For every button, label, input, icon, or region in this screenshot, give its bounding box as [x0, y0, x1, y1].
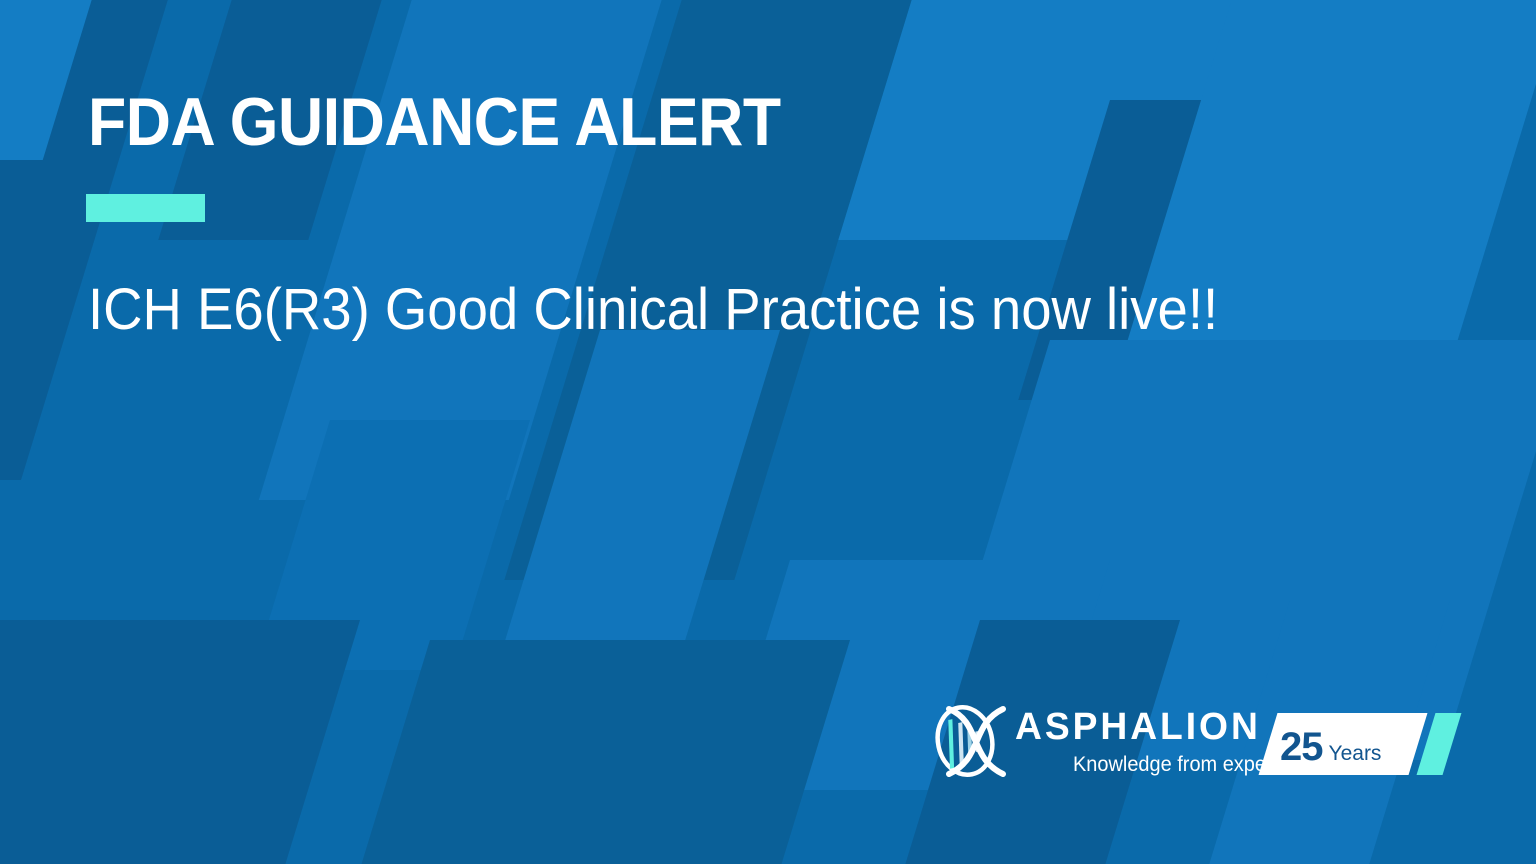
subheadline-text: ICH E6(R3) Good Clinical Practice is now… — [88, 281, 1218, 339]
slide-canvas: FDA GUIDANCE ALERT ICH E6(R3) Good Clini… — [0, 0, 1536, 864]
bg-shape-13 — [338, 640, 850, 864]
badge-label-group: 25 Years — [1280, 713, 1381, 775]
bg-shape-12 — [0, 620, 360, 864]
asphalion-dna-circle-icon — [925, 700, 1017, 782]
badge-number: 25 — [1280, 727, 1323, 767]
headline-title: FDA GUIDANCE ALERT — [88, 88, 781, 156]
anniversary-badge: 25 Years — [1258, 713, 1448, 775]
badge-unit-label: Years — [1329, 743, 1382, 764]
accent-rule — [86, 194, 205, 222]
